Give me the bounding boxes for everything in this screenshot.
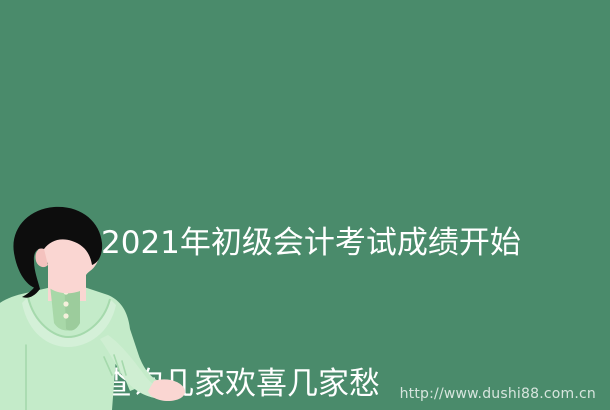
promo-banner: 2021年初级会计考试成绩开始 查询几家欢喜几家愁 http://www.dus… [0, 0, 610, 410]
collar-buttons [63, 289, 68, 318]
person-looking-up-illustration [0, 205, 200, 410]
watermark-url: http://www.dushi88.com.cn [400, 386, 596, 402]
